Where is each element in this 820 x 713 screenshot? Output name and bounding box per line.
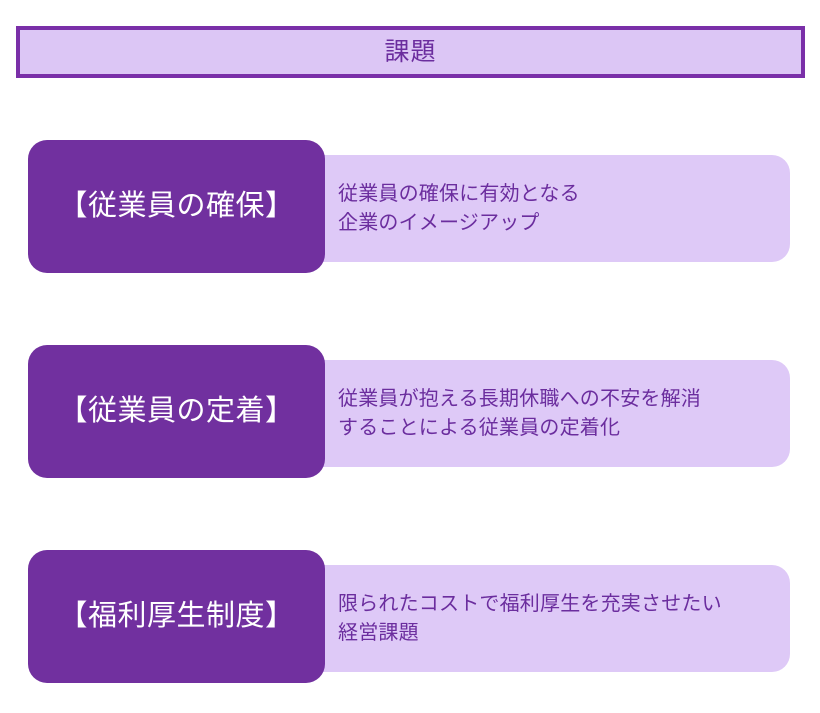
issue-label-chip: 【福利厚生制度】 [28,550,325,683]
slide-canvas: 課題 従業員の確保に有効となる 企業のイメージアップ 【従業員の確保】 従業員が… [0,0,820,713]
issue-label-chip: 【従業員の定着】 [28,345,325,478]
issue-description-text: 従業員の確保に有効となる 企業のイメージアップ [300,180,594,238]
issue-label-text: 【従業員の定着】 [58,397,294,426]
issue-row: 従業員の確保に有効となる 企業のイメージアップ 【従業員の確保】 [0,140,820,274]
issue-label-text: 【福利厚生制度】 [58,602,294,631]
issue-description-text: 従業員が抱える長期休職への不安を解消 することによる従業員の定着化 [300,385,715,443]
page-title: 課題 [384,40,436,65]
issue-description-panel: 従業員が抱える長期休職への不安を解消 することによる従業員の定着化 [300,360,790,467]
issue-description-panel: 従業員の確保に有効となる 企業のイメージアップ [300,155,790,262]
issue-row: 従業員が抱える長期休職への不安を解消 することによる従業員の定着化 【従業員の定… [0,345,820,479]
issue-label-chip: 【従業員の確保】 [28,140,325,273]
issue-description-text: 限られたコストで福利厚生を充実させたい 経営課題 [300,590,736,648]
issue-description-panel: 限られたコストで福利厚生を充実させたい 経営課題 [300,565,790,672]
issue-row: 限られたコストで福利厚生を充実させたい 経営課題 【福利厚生制度】 [0,550,820,684]
issue-label-text: 【従業員の確保】 [58,192,294,221]
header-banner: 課題 [16,26,805,78]
